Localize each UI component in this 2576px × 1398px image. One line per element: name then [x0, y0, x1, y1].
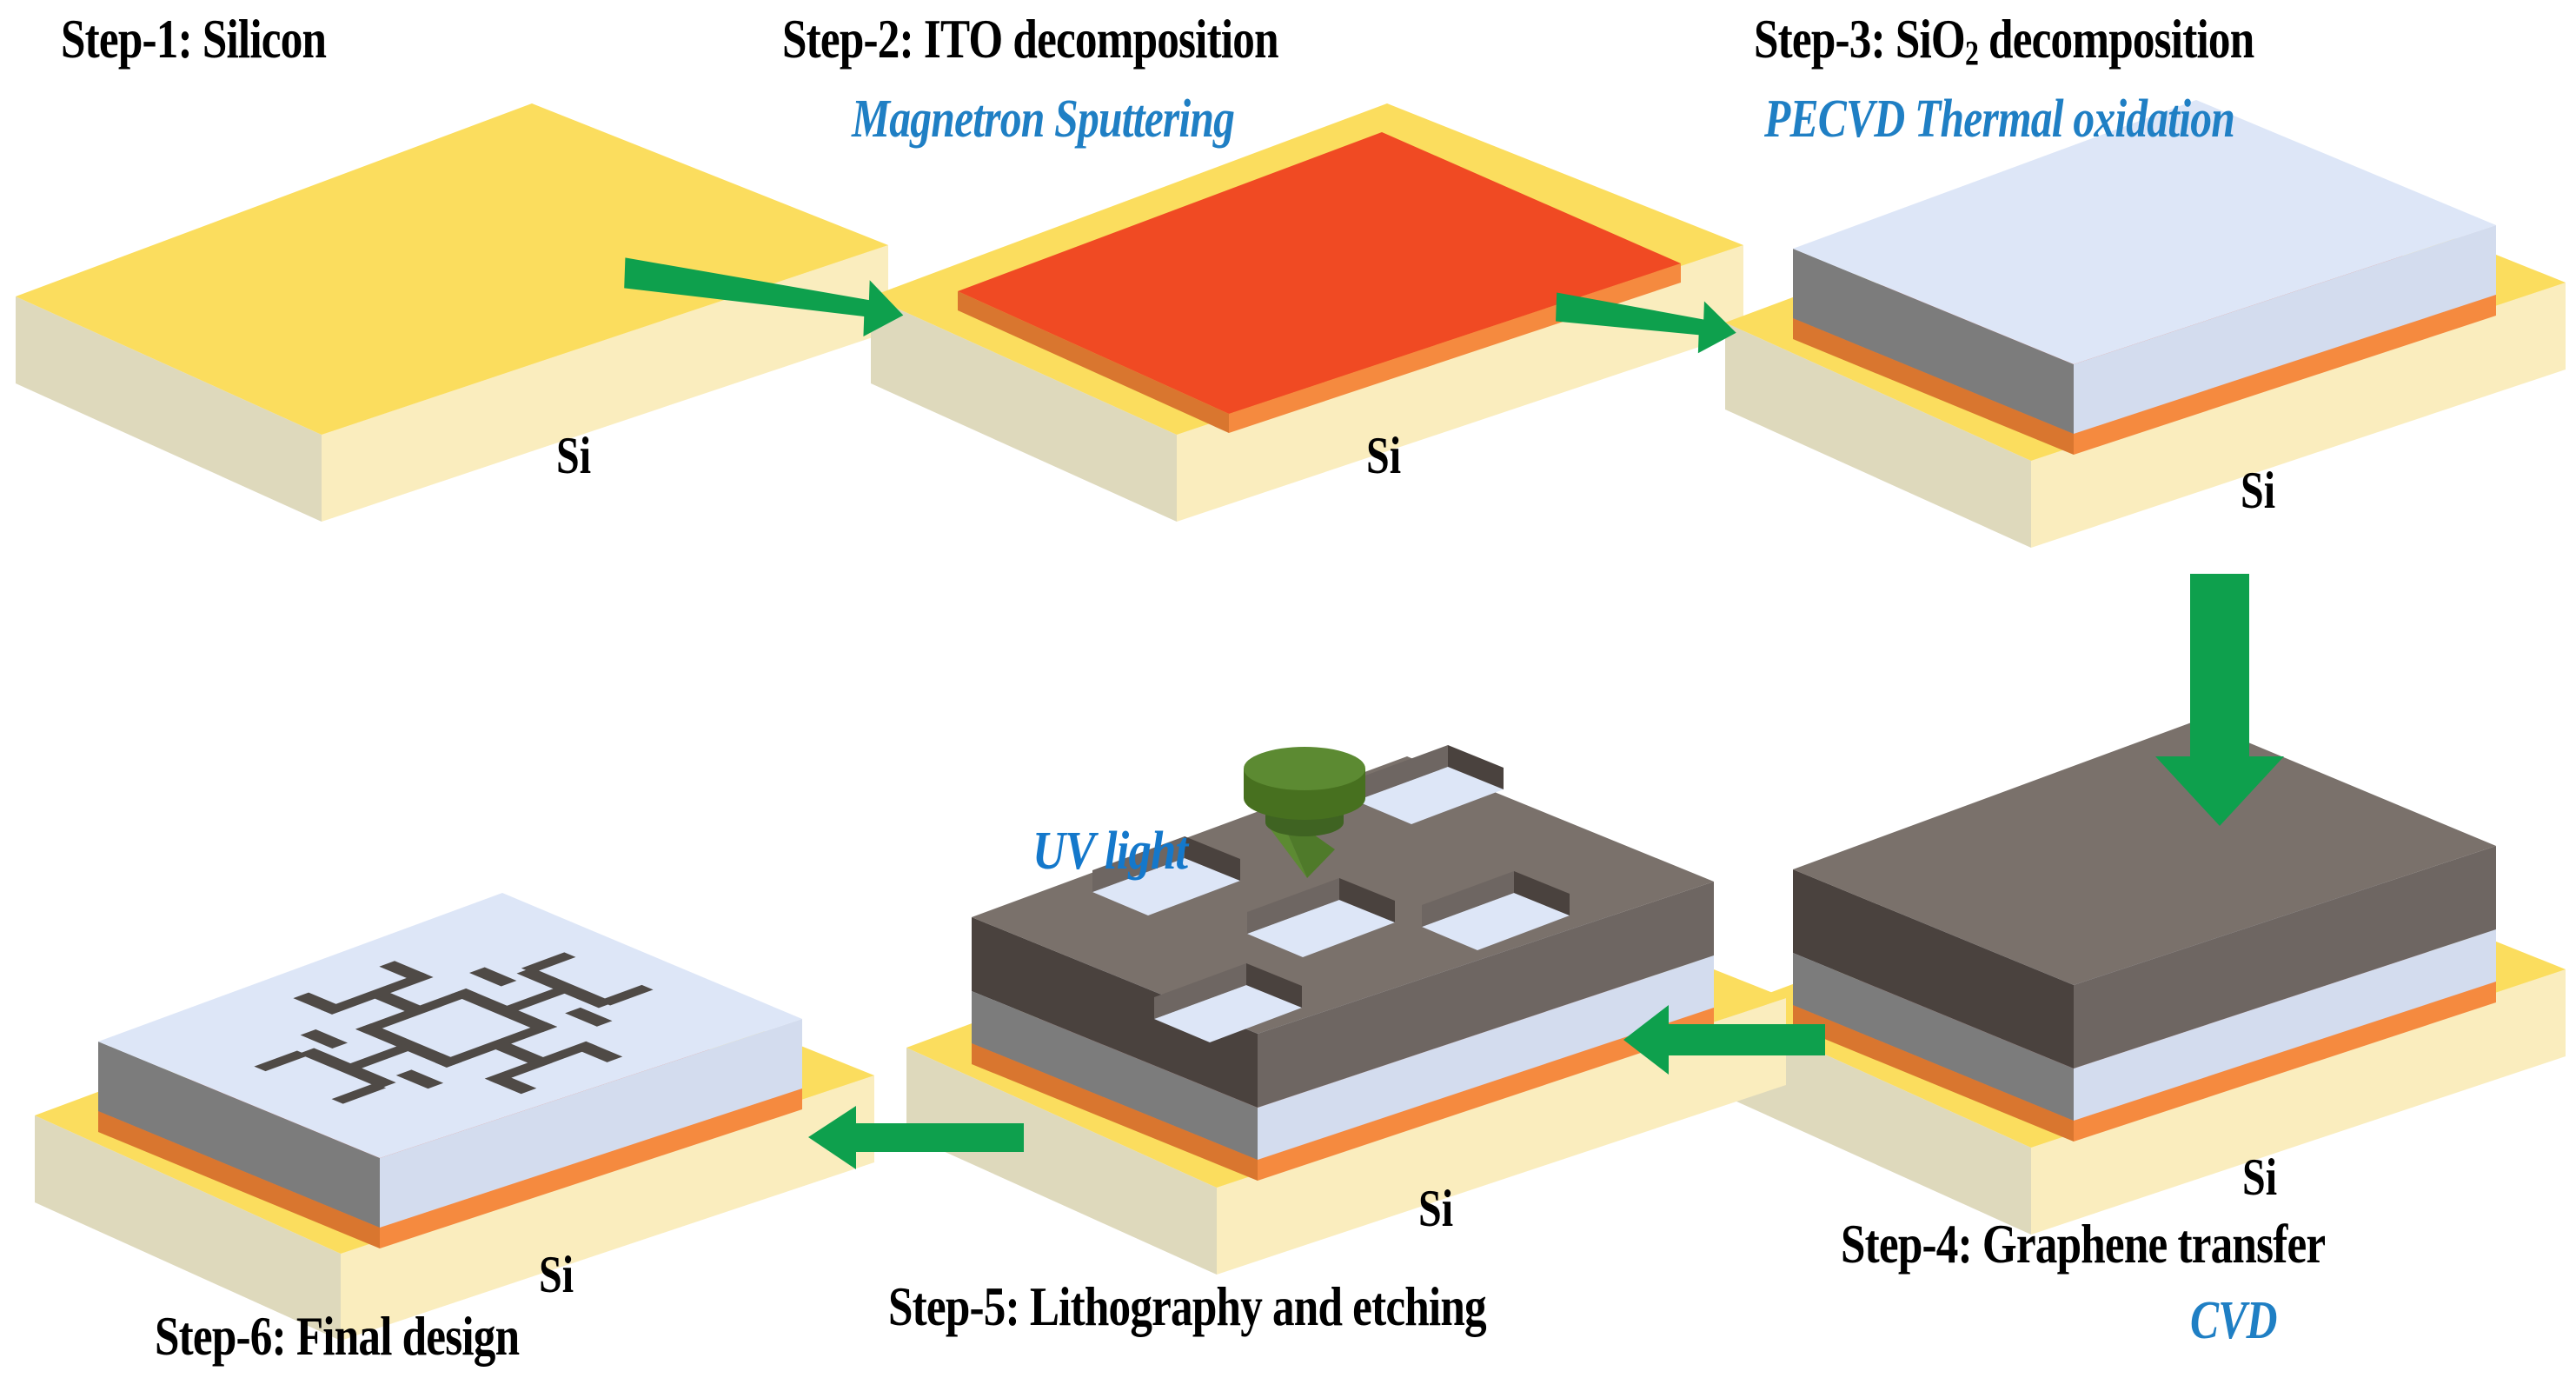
step-5-substrate-label: Si: [1418, 1179, 1453, 1239]
step-3-title-subscript: 2: [1965, 35, 1978, 73]
step-4-title: Step-4: Graphene transfer: [1841, 1212, 2325, 1276]
step-1-title: Step-1: Silicon: [61, 7, 326, 71]
step-4-subtitle: CVD: [2190, 1290, 2277, 1352]
step-2-substrate-label: Si: [1366, 426, 1401, 486]
uv-light-label: UV light: [1032, 821, 1187, 882]
step-3-title-tail: decomposition: [1978, 8, 2254, 70]
step-5-title: Step-5: Lithography and etching: [888, 1275, 1486, 1339]
step-6-substrate-label: Si: [539, 1245, 574, 1305]
step-3-substrate-label: Si: [2241, 461, 2275, 521]
isometric-scene: [0, 0, 2576, 1398]
step-1-substrate-label: Si: [556, 426, 591, 486]
step-2-title: Step-2: ITO decomposition: [782, 7, 1278, 71]
uv-lamp-cap-top: [1244, 747, 1365, 790]
step-3-title: Step-3: SiO2 decomposition: [1754, 7, 2254, 74]
process-flow-diagram: Step-1: Silicon Si Step-2: ITO decomposi…: [0, 0, 2576, 1398]
step-6-title: Step-6: Final design: [155, 1304, 519, 1368]
step-2-subtitle: Magnetron Sputtering: [852, 89, 1234, 150]
step-4-substrate-label: Si: [2242, 1148, 2277, 1208]
step-3-subtitle: PECVD Thermal oxidation: [1764, 89, 2234, 150]
step-3-title-head: Step-3: SiO: [1754, 8, 1965, 70]
